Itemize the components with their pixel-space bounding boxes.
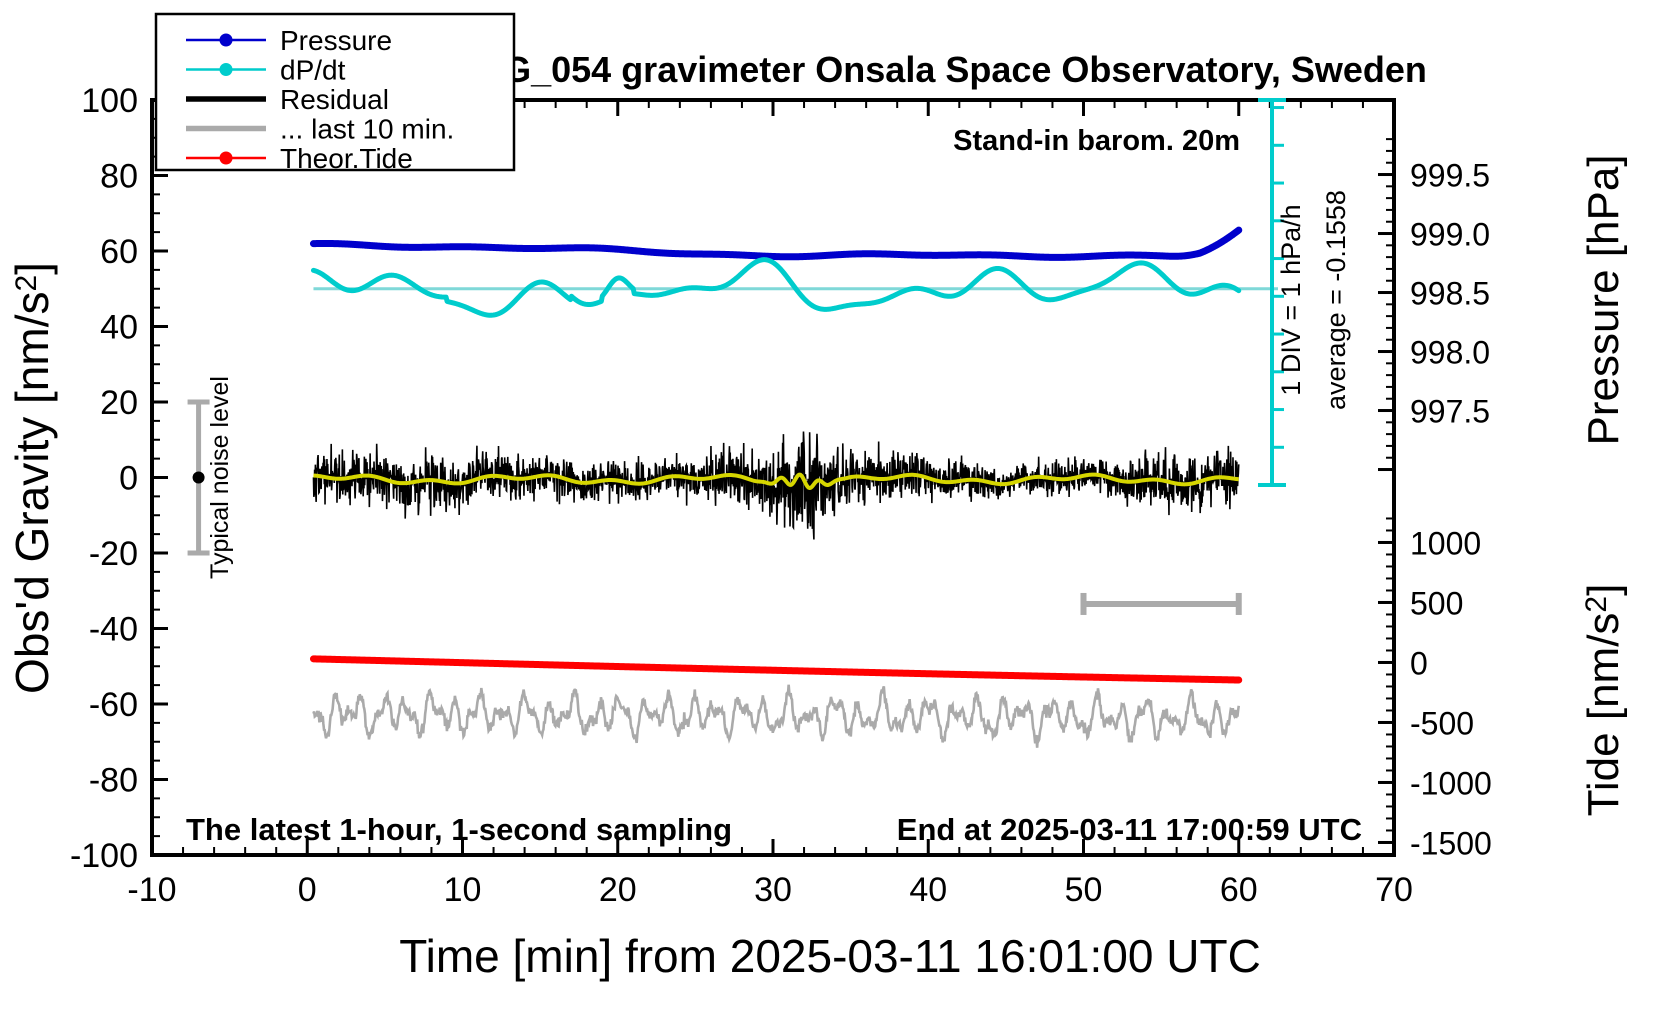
noise-level-label: Typical noise level	[206, 376, 234, 579]
pressure-tick-label: 998.0	[1410, 335, 1490, 371]
y-tick-label: -60	[89, 686, 138, 724]
y-tick-label: 0	[119, 460, 138, 498]
y-tick-label: -40	[89, 611, 138, 649]
chart-canvas: -10010203040506070-100-80-60-40-20020406…	[0, 0, 1660, 1020]
dpdt-average-label: average = -0.1558	[1321, 190, 1351, 410]
legend-label-5: Theor.Tide	[280, 143, 413, 174]
y-tick-label: 20	[100, 384, 138, 422]
x-tick-label: 0	[298, 871, 317, 909]
tide-tick-label: 500	[1410, 585, 1463, 621]
y-axis-title: Obs'd Gravity [nm/s2]	[6, 262, 58, 694]
y-tick-label: -20	[89, 535, 138, 573]
x-tick-label: 40	[909, 871, 947, 909]
legend-marker-2	[220, 63, 233, 76]
last-10-min-trace	[313, 685, 1238, 748]
tide-tick-label: 0	[1410, 645, 1428, 681]
x-tick-label: 70	[1375, 871, 1413, 909]
x-tick-label: 10	[444, 871, 482, 909]
gravimeter-plot: -10010203040506070-100-80-60-40-20020406…	[0, 0, 1660, 1020]
pressure-tick-label: 997.5	[1410, 394, 1490, 430]
pressure-tick-label: 999.5	[1410, 158, 1490, 194]
chart-title: SCG_054 gravimeter Onsala Space Observat…	[453, 49, 1427, 90]
legend-label-3: Residual	[280, 84, 389, 115]
footer-right-text: End at 2025-03-11 17:00:59 UTC	[897, 812, 1362, 847]
pressure-axis-title: Pressure [hPa]	[1579, 154, 1628, 445]
x-tick-label: 50	[1065, 871, 1103, 909]
tide-axis-title: Tide [nm/s2]	[1579, 584, 1628, 817]
y-tick-label: 40	[100, 309, 138, 347]
tide-tick-label: -1000	[1410, 765, 1492, 801]
tide-tick-label: -500	[1410, 705, 1474, 741]
legend-label-1: Pressure	[280, 25, 392, 56]
x-tick-label: 20	[599, 871, 637, 909]
theoretical-tide-trace	[313, 659, 1238, 680]
tide-tick-label: -1500	[1410, 825, 1492, 861]
legend-label-2: dP/dt	[280, 55, 346, 86]
legend-label-4: ... last 10 min.	[280, 114, 454, 145]
barometer-label: Stand-in barom. 20m	[953, 125, 1240, 157]
pressure-tick-label: 999.0	[1410, 217, 1490, 253]
x-tick-label: 30	[754, 871, 792, 909]
y-tick-label: 100	[81, 82, 138, 120]
y-tick-label: 80	[100, 158, 138, 196]
y-tick-label: -100	[70, 837, 138, 875]
tide-tick-label: 1000	[1410, 525, 1481, 561]
footer-left-text: The latest 1-hour, 1-second sampling	[186, 812, 732, 847]
y-tick-label: 60	[100, 233, 138, 271]
residual-trace	[313, 432, 1238, 540]
legend-marker-1	[220, 34, 233, 47]
legend-marker-5	[220, 152, 233, 165]
x-tick-label: -10	[127, 871, 176, 909]
y-tick-label: -80	[89, 762, 138, 800]
pressure-tick-label: 998.5	[1410, 276, 1490, 312]
noise-level-center-dot	[193, 472, 205, 484]
x-axis-title: Time [min] from 2025-03-11 16:01:00 UTC	[399, 930, 1261, 982]
pressure-trace	[313, 230, 1238, 257]
dpdt-scale-label: 1 DIV = 1 hPa/h	[1276, 204, 1306, 395]
x-tick-label: 60	[1220, 871, 1258, 909]
